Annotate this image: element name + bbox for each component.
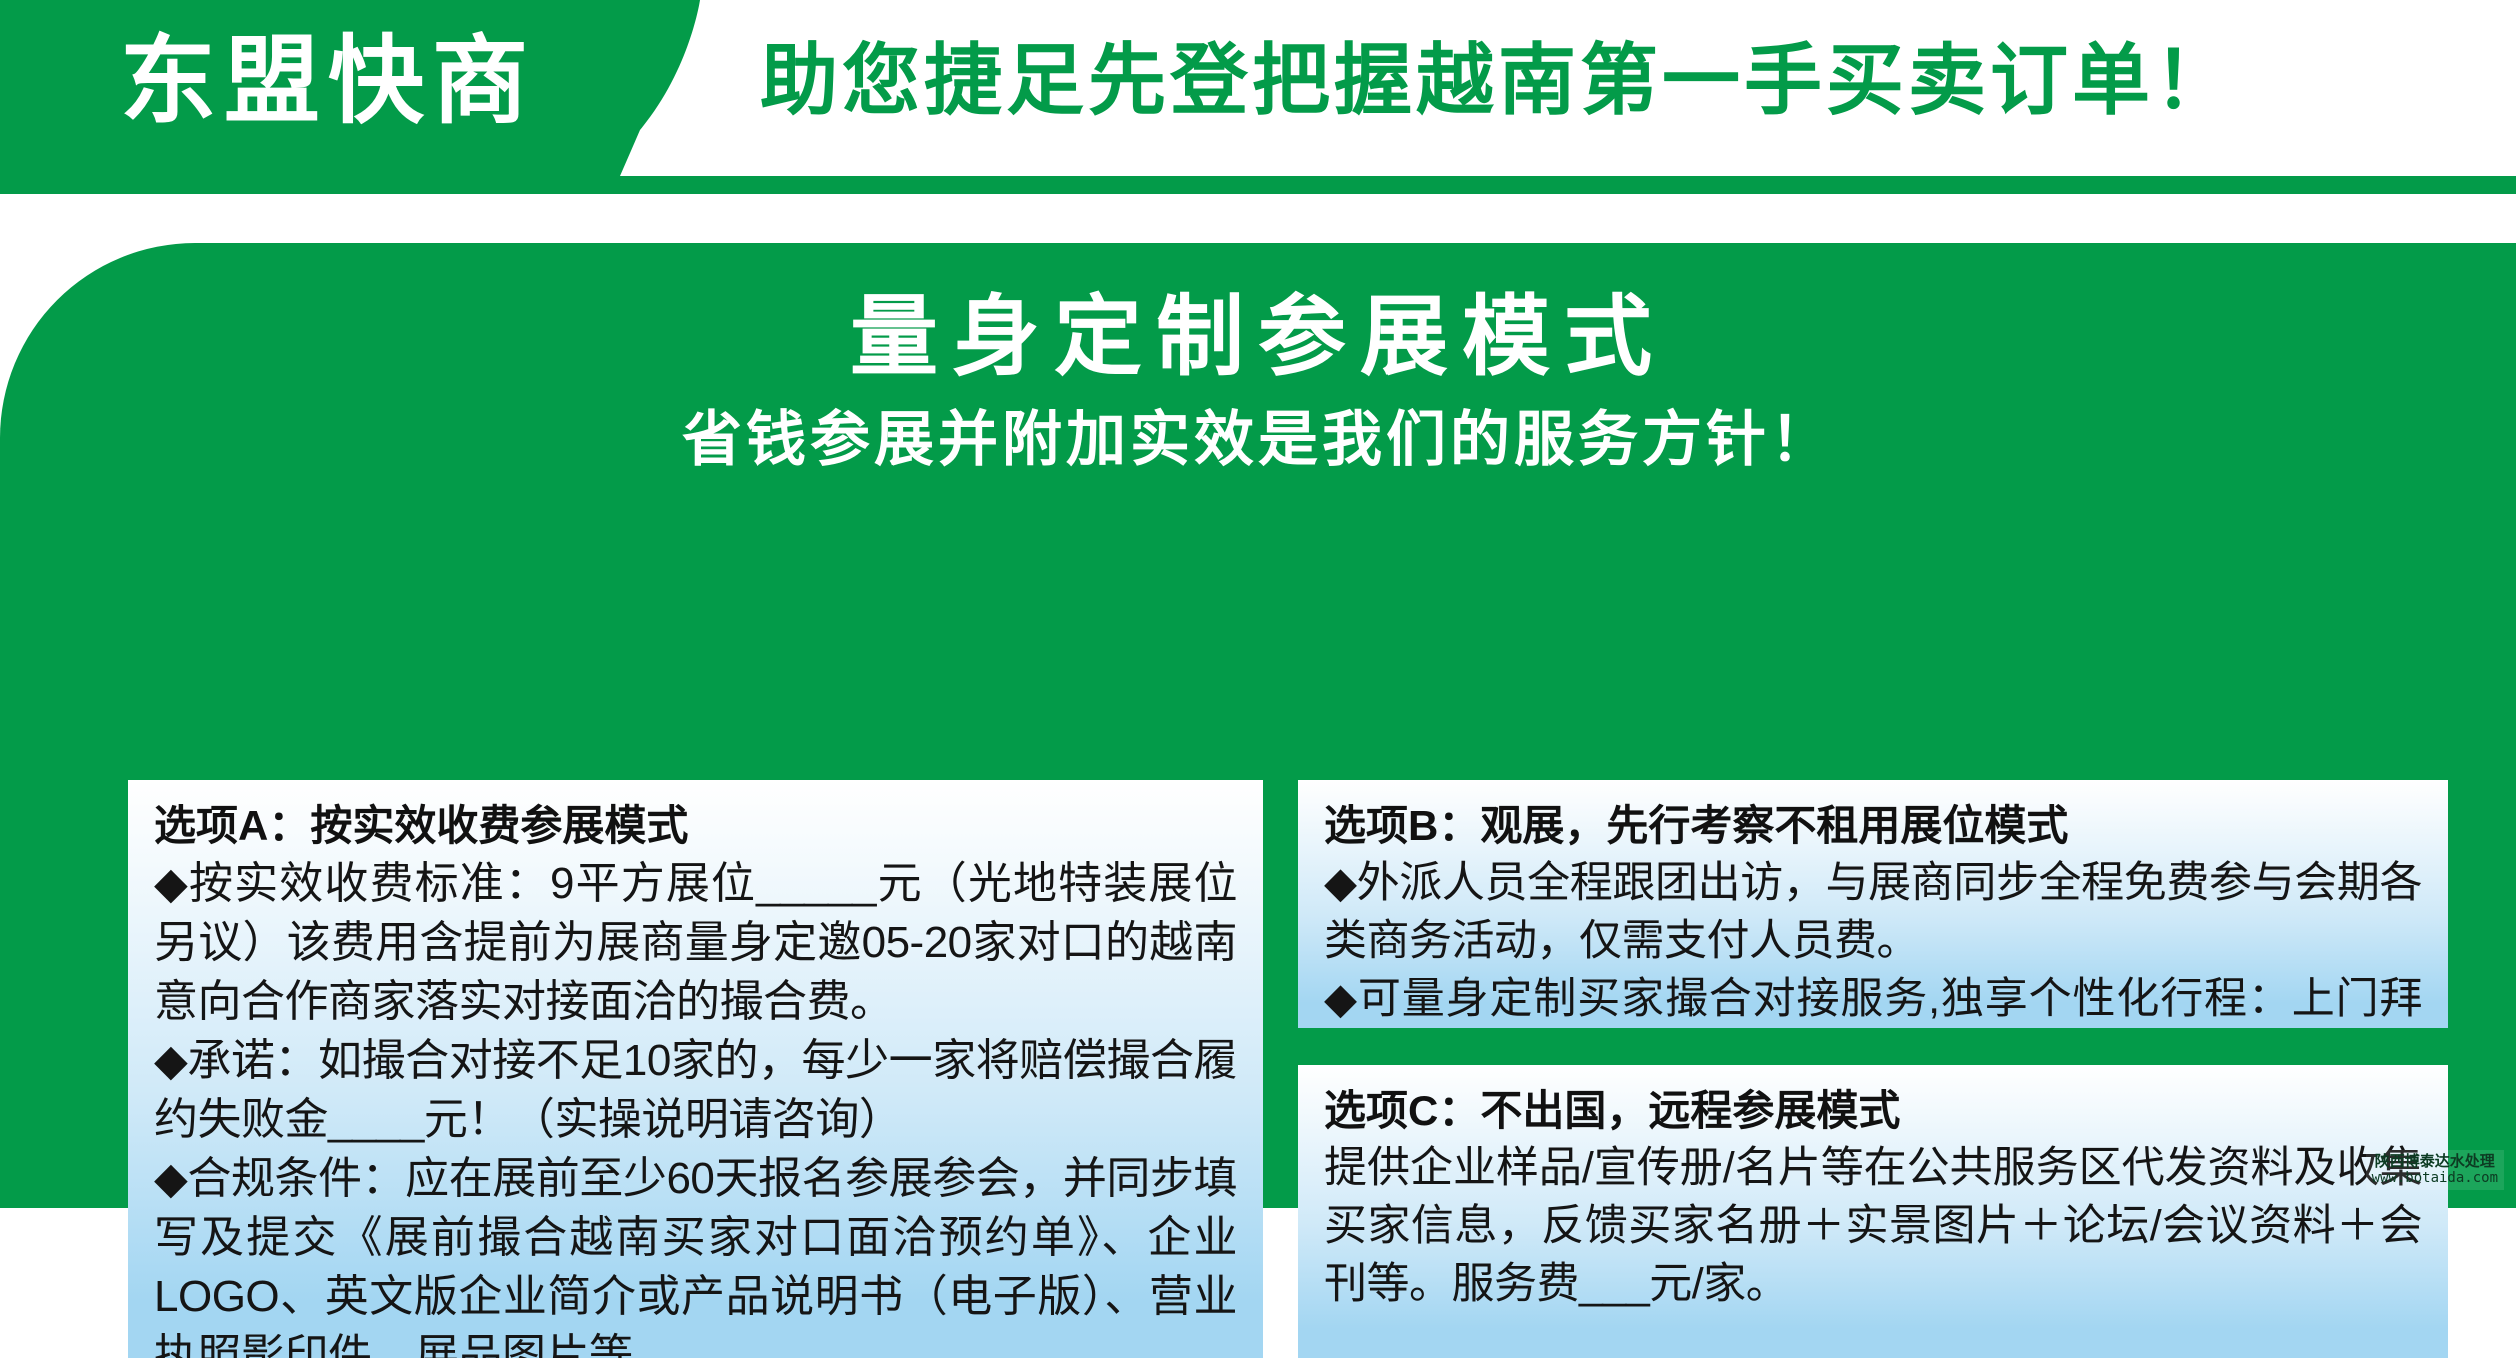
option-a-paragraph-2: ◆承诺：如撮合对接不足10家的，每少一家将赔偿撮合履约失败金____元！（实操说… [154,1031,1237,1149]
option-b-box: 选项B：观展，先行考察不租用展位模式 ◆外派人员全程跟团出访，与展商同步全程免费… [1298,780,2448,1028]
option-b-paragraph-2: ◆可量身定制买家撮合对接服务,独享个性化行程：上门拜访客户、实地考察、商协会接洽… [1324,970,2422,1028]
option-a-box: 选项A：按实效收费参展模式 ◆按实效收费标准：9平方展位_____元（光地特装展… [128,780,1263,1358]
banner-title: 量身定制参展模式 [0,285,2516,389]
option-b-paragraph-1: ◆外派人员全程跟团出访，与展商同步全程免费参与会期各类商务活动，仅需支付人员费。 [1324,854,2422,970]
watermark: 陕西博泰达水处理 www.botaida.com [2366,1150,2504,1190]
header-divider-strip [0,176,2516,194]
watermark-line-1: 陕西博泰达水处理 [2372,1153,2498,1170]
header-slogan: 助您捷足先登把握越南第一手买卖订单！ [760,32,2236,128]
brand-logo-text: 东盟快商 [120,27,536,137]
option-b-title: 选项B：观展，先行考察不租用展位模式 [1324,798,2422,854]
option-a-paragraph-1: ◆按实效收费标准：9平方展位_____元（光地特装展位另议）该费用含提前为展商量… [154,854,1237,1031]
option-a-title: 选项A：按实效收费参展模式 [154,798,1237,854]
option-c-paragraph-1: 提供企业样品/宣传册/名片等在公共服务区代发资料及收集买家信息，反馈买家名册＋实… [1324,1139,2422,1313]
banner-subtitle: 省钱参展并附加实效是我们的服务方针！ [0,403,2516,477]
main-green-panel: 量身定制参展模式 省钱参展并附加实效是我们的服务方针！ 选项A：按实效收费参展模… [0,243,2516,1208]
option-c-box: 选项C：不出国，远程参展模式 提供企业样品/宣传册/名片等在公共服务区代发资料及… [1298,1065,2448,1358]
option-c-title: 选项C：不出国，远程参展模式 [1324,1083,2422,1139]
header-bar: 东盟快商 助您捷足先登把握越南第一手买卖订单！ [0,0,2516,176]
watermark-line-2: www.botaida.com [2372,1170,2498,1187]
option-a-paragraph-3: ◆合规条件：应在展前至少60天报名参展参会，并同步填写及提交《展前撮合越南买家对… [154,1149,1237,1358]
